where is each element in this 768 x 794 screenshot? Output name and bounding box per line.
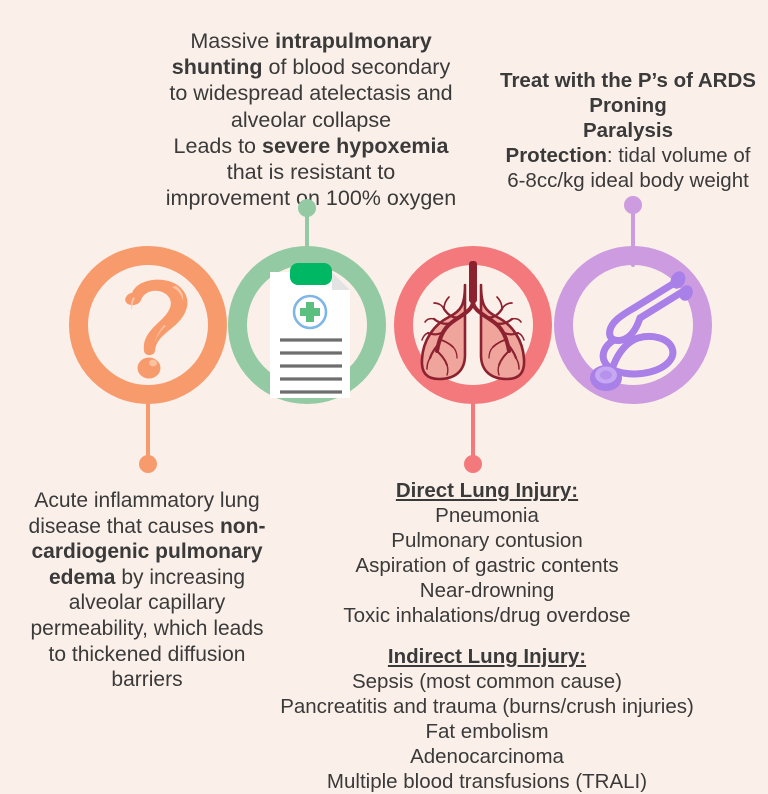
plain-text: of blood secondary <box>263 55 451 79</box>
text-line: Proning <box>484 93 768 118</box>
text-line: permeability, which leads <box>8 616 286 642</box>
cause-item: Sepsis (most common cause) <box>252 669 722 694</box>
text-line: Paralysis <box>484 118 768 143</box>
plain-text: permeability, which leads <box>30 617 263 640</box>
spacer <box>252 628 722 644</box>
text-line: to thickened diffusion <box>8 642 286 668</box>
connector-dot <box>464 455 482 473</box>
cause-item: Near-drowning <box>252 578 722 603</box>
text-line: shunting of blood secondary <box>150 54 472 80</box>
stethoscope-icon <box>568 260 698 390</box>
cause-item: Adenocarcinoma <box>252 744 722 769</box>
lungs-icon <box>403 255 543 395</box>
circle-lungs[interactable] <box>394 246 552 404</box>
connector-dot <box>298 199 316 217</box>
text-line: that is resistant to <box>150 159 472 185</box>
emphasis-text: Paralysis <box>583 119 673 142</box>
treatment-text: Treat with the P’s of ARDSProningParalys… <box>484 68 768 193</box>
cause-item: Multiple blood transfusions (TRALI) <box>252 769 722 794</box>
plain-text: Leads to <box>174 134 262 158</box>
medical-clipboard-icon <box>232 250 382 400</box>
question-mark-icon <box>98 271 198 379</box>
text-line: Massive intrapulmonary <box>150 28 472 54</box>
emphasis-text: edema <box>49 566 116 589</box>
plain-text: to widespread atelectasis and <box>169 81 452 105</box>
causes-text: Direct Lung Injury:PneumoniaPulmonary co… <box>252 478 722 794</box>
text-line: edema by increasing <box>8 565 286 591</box>
connector-dot <box>139 455 157 473</box>
circle-clipboard[interactable] <box>228 246 386 404</box>
plain-text: to thickened diffusion <box>49 643 246 666</box>
text-line: 6-8cc/kg ideal body weight <box>484 168 768 193</box>
circle-question[interactable] <box>69 246 227 404</box>
emphasis-text: severe hypoxemia <box>262 134 448 158</box>
plain-text: alveolar collapse <box>231 108 391 132</box>
text-line: barriers <box>8 667 286 693</box>
emphasis-text: Treat with the P’s of ARDS <box>500 69 756 92</box>
text-line: cardiogenic pulmonary <box>8 539 286 565</box>
cause-item: Toxic inhalations/drug overdose <box>252 603 722 628</box>
text-line: to widespread atelectasis and <box>150 80 472 106</box>
cause-item: Pulmonary contusion <box>252 528 722 553</box>
plain-text: Acute inflammatory lung <box>34 489 259 512</box>
plain-text: by increasing <box>115 566 245 589</box>
cause-item: Aspiration of gastric contents <box>252 553 722 578</box>
plain-text: alveolar capillary <box>69 591 225 614</box>
direct-lung-injury-heading: Direct Lung Injury: <box>252 478 722 503</box>
indirect-lung-injury-heading: Indirect Lung Injury: <box>252 644 722 669</box>
plain-text: 6-8cc/kg ideal body weight <box>507 169 749 192</box>
cause-item: Pancreatitis and trauma (burns/crush inj… <box>252 694 722 719</box>
pathophysiology-text: Massive intrapulmonaryshunting of blood … <box>150 28 472 212</box>
connector-dot <box>624 196 642 214</box>
text-line: Treat with the P’s of ARDS <box>484 68 768 93</box>
plain-text: barriers <box>111 668 182 691</box>
emphasis-text: shunting <box>172 55 263 79</box>
definition-text: Acute inflammatory lungdisease that caus… <box>8 488 286 693</box>
plain-text: Massive <box>190 29 275 53</box>
cause-item: Fat embolism <box>252 719 722 744</box>
text-line: Leads to severe hypoxemia <box>150 133 472 159</box>
plain-text: : tidal volume of <box>607 144 751 167</box>
text-line: disease that causes non- <box>8 514 286 540</box>
emphasis-text: Proning <box>589 94 666 117</box>
circle-stethoscope[interactable] <box>554 246 712 404</box>
text-line: Acute inflammatory lung <box>8 488 286 514</box>
cause-item: Pneumonia <box>252 503 722 528</box>
infographic-canvas: Massive intrapulmonaryshunting of blood … <box>0 0 768 768</box>
emphasis-text: cardiogenic pulmonary <box>31 540 262 563</box>
plain-text: that is resistant to <box>227 160 396 184</box>
emphasis-text: Protection <box>506 144 607 167</box>
text-line: alveolar capillary <box>8 590 286 616</box>
text-line: Protection: tidal volume of <box>484 143 768 168</box>
emphasis-text: intrapulmonary <box>275 29 432 53</box>
text-line: alveolar collapse <box>150 107 472 133</box>
plain-text: disease that causes <box>29 515 220 538</box>
